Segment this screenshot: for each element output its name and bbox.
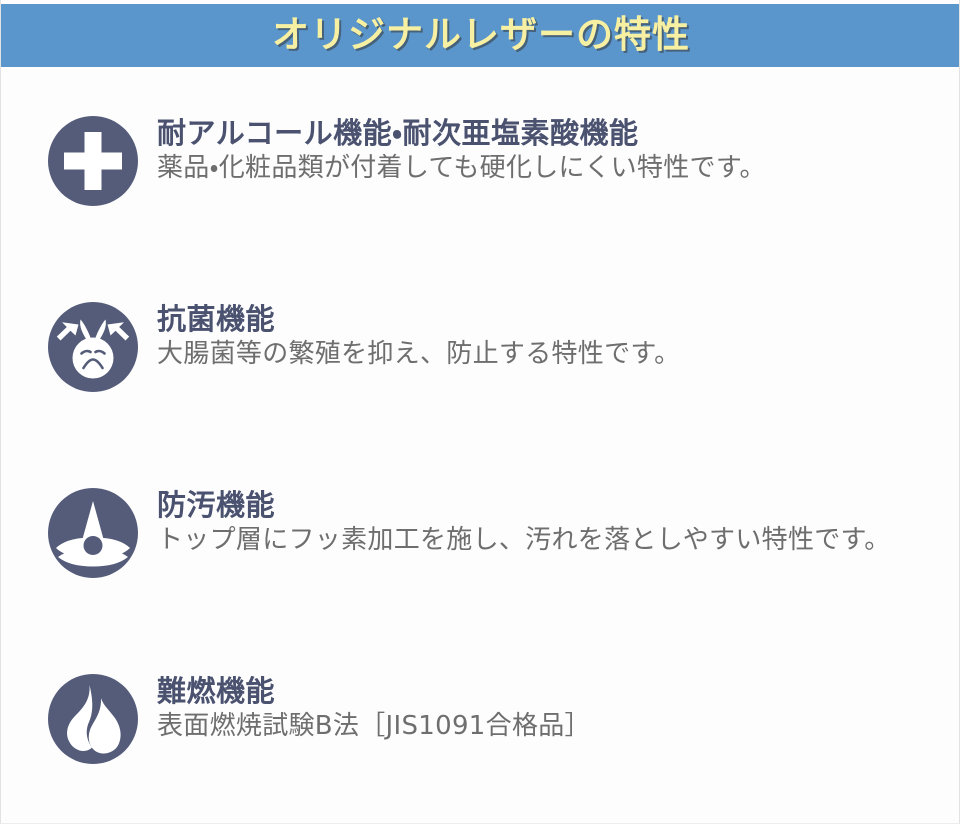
water-droplet-repellent-icon	[48, 488, 138, 578]
feature-title: 防汚機能	[157, 489, 960, 521]
feature-item-flame-retardant: 難燃機能 表面燃焼試験B法［JIS1091合格品］	[1, 628, 960, 814]
antibacterial-germ-icon	[48, 302, 138, 392]
flame-icon	[48, 674, 138, 764]
feature-item-alcohol-resistance: 耐アルコール機能・耐次亜塩素酸機能 薬品・化粧品類が付着しても硬化しにくい特性で…	[1, 67, 960, 256]
medical-cross-icon	[48, 116, 138, 206]
feature-text: 抗菌機能 大腸菌等の繁殖を抑え、防止する特性です。	[157, 302, 960, 371]
icon-container	[48, 488, 140, 580]
feature-text: 難燃機能 表面燃焼試験B法［JIS1091合格品］	[157, 674, 960, 743]
feature-description: 薬品・化粧品類が付着しても硬化しにくい特性です。	[157, 153, 960, 184]
page-title: オリジナルレザーの特性	[272, 16, 690, 53]
feature-item-anti-stain: 防汚機能 トップ層にフッ素加工を施し、汚れを落としやすい特性です。	[1, 442, 960, 628]
feature-title: 難燃機能	[157, 675, 960, 707]
feature-description: トップ層にフッ素加工を施し、汚れを落としやすい特性です。	[157, 525, 960, 556]
feature-description: 表面燃焼試験B法［JIS1091合格品］	[157, 711, 960, 742]
icon-container	[48, 302, 140, 394]
feature-infographic-page: オリジナルレザーの特性 耐アルコール機能・耐次亜塩素酸機能 薬品・化粧品類が付着…	[0, 0, 960, 824]
icon-container	[48, 116, 140, 208]
feature-title: 耐アルコール機能・耐次亜塩素酸機能	[157, 117, 960, 149]
feature-list: 耐アルコール機能・耐次亜塩素酸機能 薬品・化粧品類が付着しても硬化しにくい特性で…	[1, 67, 960, 824]
feature-item-antibacterial: 抗菌機能 大腸菌等の繁殖を抑え、防止する特性です。	[1, 256, 960, 442]
feature-text: 防汚機能 トップ層にフッ素加工を施し、汚れを落としやすい特性です。	[157, 488, 960, 557]
header-banner: オリジナルレザーの特性	[1, 4, 960, 67]
feature-text: 耐アルコール機能・耐次亜塩素酸機能 薬品・化粧品類が付着しても硬化しにくい特性で…	[157, 116, 960, 185]
feature-title: 抗菌機能	[157, 303, 960, 335]
icon-container	[48, 674, 140, 766]
feature-description: 大腸菌等の繁殖を抑え、防止する特性です。	[157, 339, 960, 370]
feature-item-rohs: RO PVC RoHS対応 鉛やカドミウムを使用しない環境にやさしい特性です。	[1, 814, 960, 824]
